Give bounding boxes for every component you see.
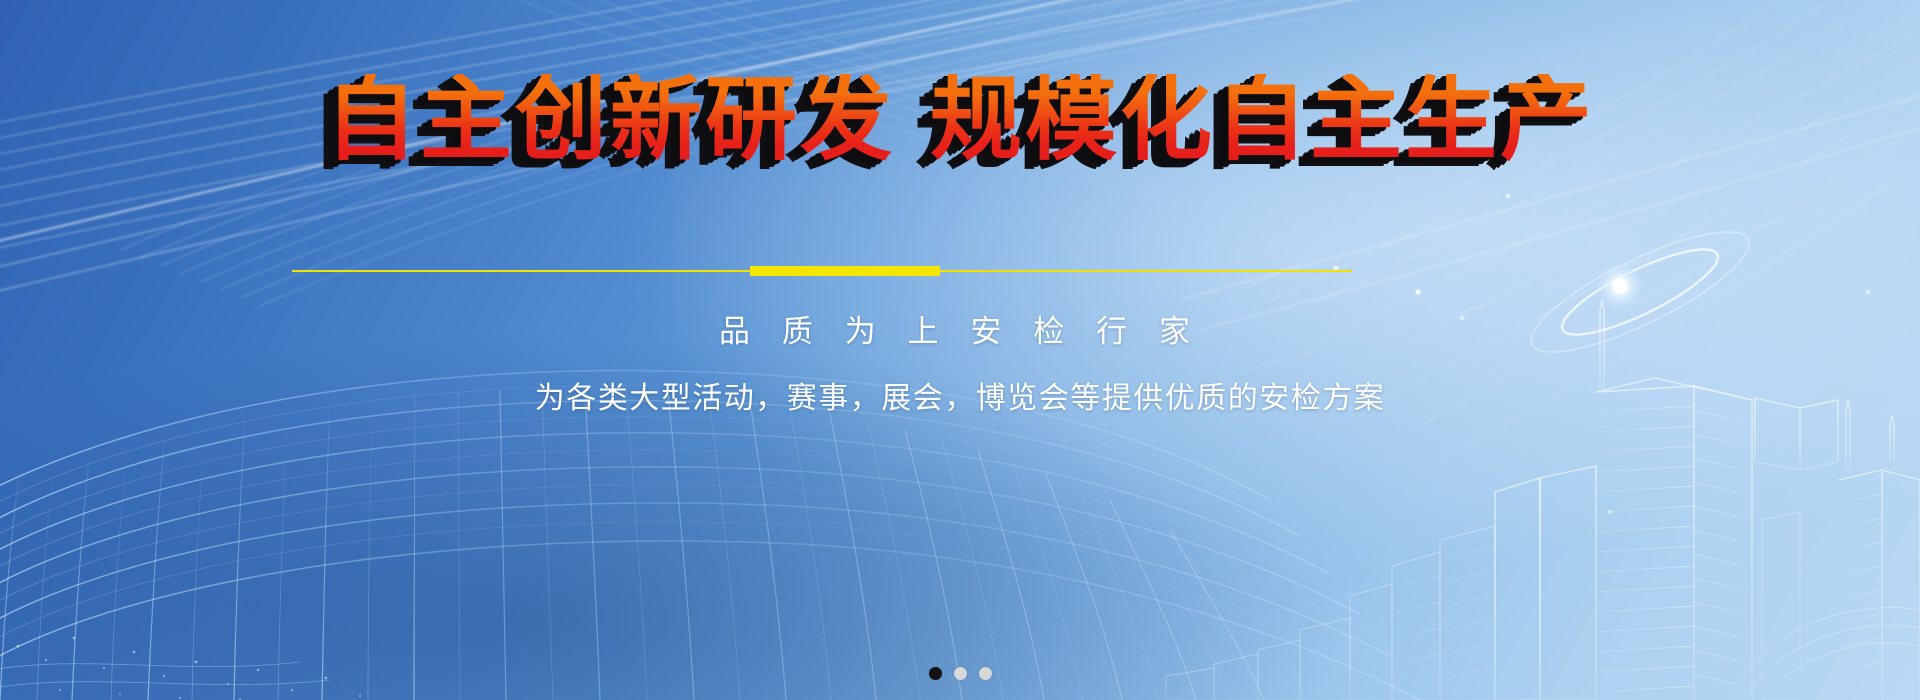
beam-lines — [1180, 96, 1920, 372]
carousel-dot-2[interactable] — [954, 667, 967, 680]
divider-thin-line — [292, 270, 1352, 272]
city-skyline-wireframe — [1166, 256, 1920, 700]
yellow-divider — [292, 264, 1352, 278]
subtitle-slogan: 品 质 为 上 安 检 行 家 — [0, 306, 1920, 351]
subtitle-container: 品 质 为 上 安 检 行 家 为各类大型活动，赛事，展会，博览会等提供优质的安… — [0, 306, 1920, 417]
hero-banner-slide: 自主创新研发 规模化自主生产 品 质 为 上 安 检 行 家 为各类大型活动，赛… — [0, 0, 1920, 700]
carousel-dots[interactable] — [0, 667, 1920, 680]
background-sheen-upper — [0, 0, 1920, 630]
divider-thick-accent — [750, 266, 940, 276]
light-wave-fan — [0, 0, 1580, 300]
background-sheen-right — [672, 0, 1920, 630]
background-artwork — [0, 0, 1920, 700]
headline-container: 自主创新研发 规模化自主生产 — [0, 74, 1920, 166]
subtitle-description: 为各类大型活动，赛事，展会，博览会等提供优质的安检方案 — [0, 373, 1920, 417]
curved-grid-mesh — [0, 371, 1420, 700]
carousel-dot-3[interactable] — [979, 667, 992, 680]
carousel-dot-1[interactable] — [929, 667, 942, 680]
background-sheen-lower-left — [0, 315, 1344, 700]
banner-headline: 自主创新研发 规模化自主生产 — [325, 74, 1595, 166]
glowing-orbit-node — [1333, 194, 1870, 515]
ray-fan-upper-right — [1240, 0, 1920, 460]
moire-hatch-upper-left — [120, 0, 1380, 306]
